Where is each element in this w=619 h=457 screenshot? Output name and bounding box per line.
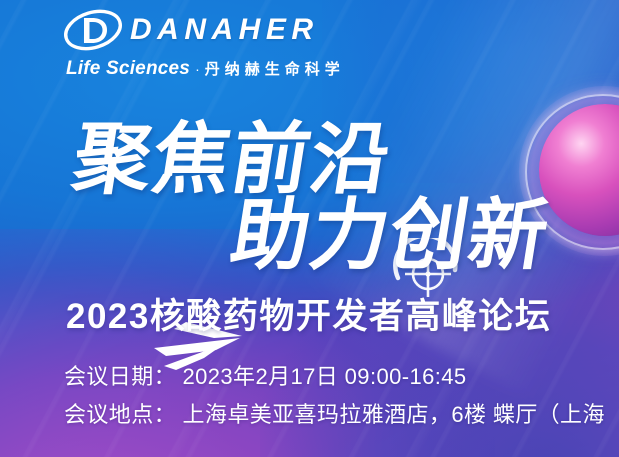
- event-venue-line: 会议地点： 上海卓美亚喜玛拉雅酒店，6楼 蝶厅（上海: [64, 396, 605, 434]
- event-subtitle: 2023核酸药物开发者高峰论坛: [66, 288, 551, 339]
- headline-line-1: 聚焦前沿: [68, 120, 396, 198]
- brand-tagline-row: Life Sciences · 丹纳赫生命科学: [66, 58, 345, 80]
- brand-tagline-cn: 丹纳赫生命科学: [205, 58, 345, 79]
- headline-block: 聚焦前沿 助力创新: [0, 108, 619, 283]
- brand-logo-block: DANAHER Life Sciences · 丹纳赫生命科学: [62, 8, 345, 80]
- danaher-d-ellipse-logo-icon: [62, 8, 124, 52]
- brand-logo-row: DANAHER: [62, 8, 319, 52]
- event-info-list: 会议日期： 2023年2月17日 09:00-16:45 会议地点： 上海卓美亚…: [64, 358, 605, 434]
- brand-tagline-en: Life Sciences: [66, 58, 190, 80]
- brand-tagline-separator: ·: [195, 61, 200, 77]
- brand-wordmark: DANAHER: [130, 15, 319, 45]
- conference-banner: DANAHER Life Sciences · 丹纳赫生命科学 聚焦前沿 助力创…: [0, 0, 619, 457]
- headline-line-2: 助力创新: [226, 196, 554, 274]
- event-date-line: 会议日期： 2023年2月17日 09:00-16:45: [64, 358, 605, 396]
